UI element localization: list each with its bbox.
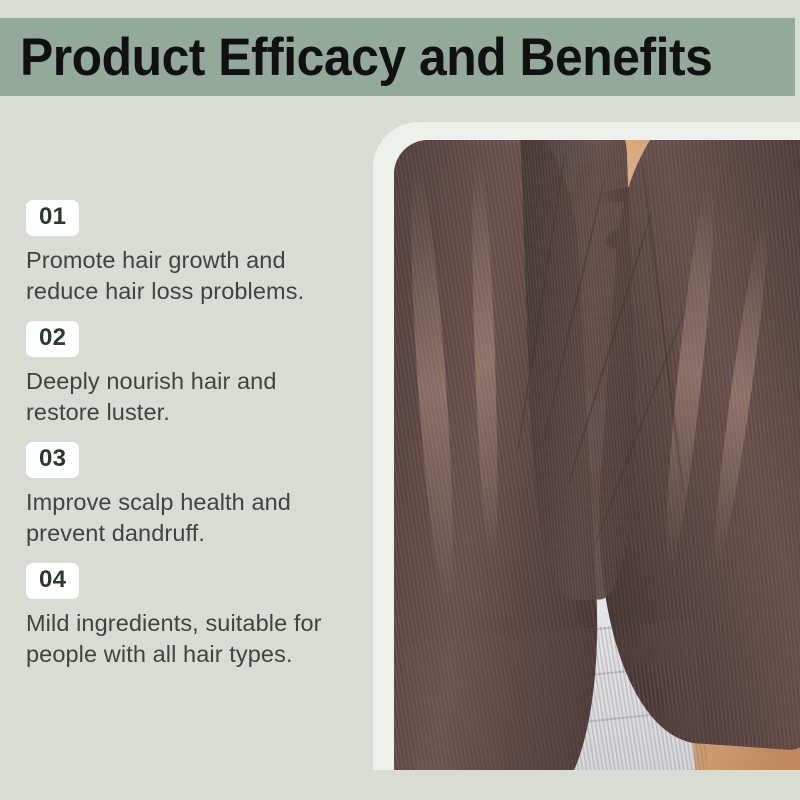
header-band: Product Efficacy and Benefits	[0, 18, 795, 96]
photo-backdrop	[394, 140, 800, 770]
benefit-text: Promote hair growth and reduce hair loss…	[26, 245, 356, 307]
benefits-list: 01 Promote hair growth and reduce hair l…	[26, 200, 356, 670]
page-title: Product Efficacy and Benefits	[20, 31, 712, 84]
benefit-item-03: 03 Improve scalp health and prevent dand…	[26, 442, 356, 549]
hair-tips	[404, 619, 709, 770]
benefit-text: Deeply nourish hair and restore luster.	[26, 366, 356, 428]
benefit-number-badge: 02	[26, 321, 79, 357]
benefit-number-badge: 03	[26, 442, 79, 478]
slide-root: Product Efficacy and Benefits 01 Promote…	[0, 0, 800, 800]
model-hair-photo	[394, 140, 800, 770]
photo-frame	[373, 122, 800, 770]
benefit-number-badge: 01	[26, 200, 79, 236]
benefit-text: Improve scalp health and prevent dandruf…	[26, 487, 356, 549]
benefit-item-04: 04 Mild ingredients, suitable for people…	[26, 563, 356, 670]
benefit-text: Mild ingredients, suitable for people wi…	[26, 608, 356, 670]
benefit-item-01: 01 Promote hair growth and reduce hair l…	[26, 200, 356, 307]
benefit-item-02: 02 Deeply nourish hair and restore luste…	[26, 321, 356, 428]
benefit-number-badge: 04	[26, 563, 79, 599]
